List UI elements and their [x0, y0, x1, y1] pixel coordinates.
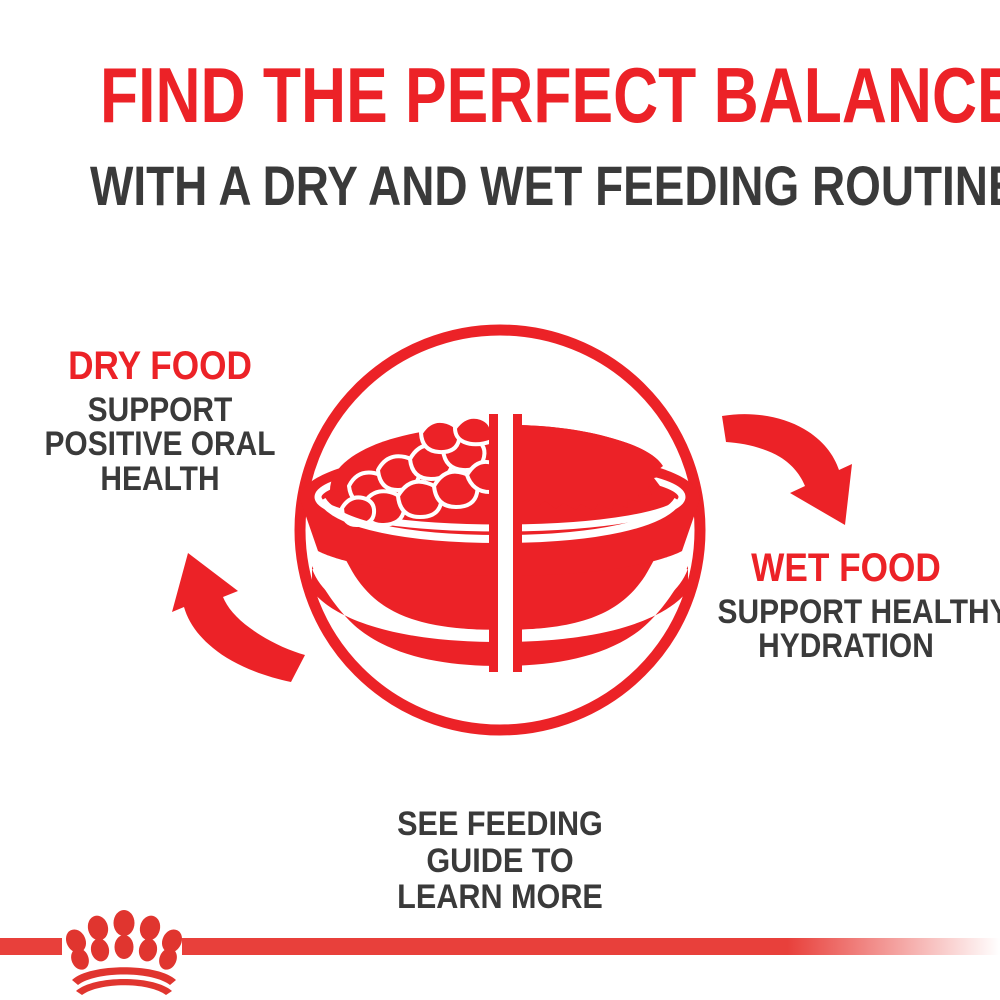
dry-food-kicker: DRY FOOD	[37, 346, 283, 387]
callout-wet-food: WET FOOD SUPPORT HEALTHY HYDRATION	[700, 548, 992, 664]
bowl-inner-rim-arc	[322, 500, 678, 539]
wet-food-line-2: HYDRATION	[718, 629, 975, 664]
royal-canin-crown-logo	[62, 910, 186, 995]
right-rule-bar	[182, 938, 1000, 955]
poster-canvas: FIND THE PERFECT BALANCE WITH A DRY AND …	[0, 0, 1000, 1000]
dry-kibble-mound	[330, 417, 492, 525]
wet-food-mound	[520, 425, 664, 511]
pet-food-bowl	[300, 417, 700, 666]
bowl-rim-highlight	[318, 466, 682, 528]
wet-food-kicker: WET FOOD	[718, 548, 975, 589]
dry-food-description: SUPPORT POSITIVE ORAL HEALTH	[37, 393, 283, 497]
vertical-split-lines	[489, 414, 522, 672]
left-rule-bar	[0, 938, 62, 955]
wet-food-line-1: SUPPORT HEALTHY	[718, 595, 975, 630]
bowl-base-separator	[316, 568, 684, 634]
dry-food-line-2: POSITIVE ORAL	[37, 427, 283, 462]
bowl-base-ring	[312, 566, 688, 666]
curved-arrow-pointing-down-right	[722, 414, 852, 525]
cta-line-2: GUIDE TO	[347, 843, 653, 880]
bowl-lower-body	[318, 487, 682, 630]
page-title: FIND THE PERFECT BALANCE	[100, 56, 900, 134]
feeding-guide-cta: SEE FEEDING GUIDE TO LEARN MORE	[330, 806, 670, 916]
dry-food-line-1: SUPPORT	[37, 393, 283, 428]
dry-food-line-3: HEALTH	[37, 462, 283, 497]
curved-arrow-pointing-up-left	[172, 553, 305, 682]
footer-bar	[0, 905, 1000, 1000]
callout-dry-food: DRY FOOD SUPPORT POSITIVE ORAL HEALTH	[20, 346, 300, 497]
page-subtitle: WITH A DRY AND WET FEEDING ROUTINE	[90, 158, 910, 214]
cta-line-1: SEE FEEDING	[347, 806, 653, 843]
bowl-upper-wall	[300, 449, 700, 576]
red-outline-circle	[300, 330, 700, 730]
wet-food-description: SUPPORT HEALTHY HYDRATION	[718, 595, 975, 664]
